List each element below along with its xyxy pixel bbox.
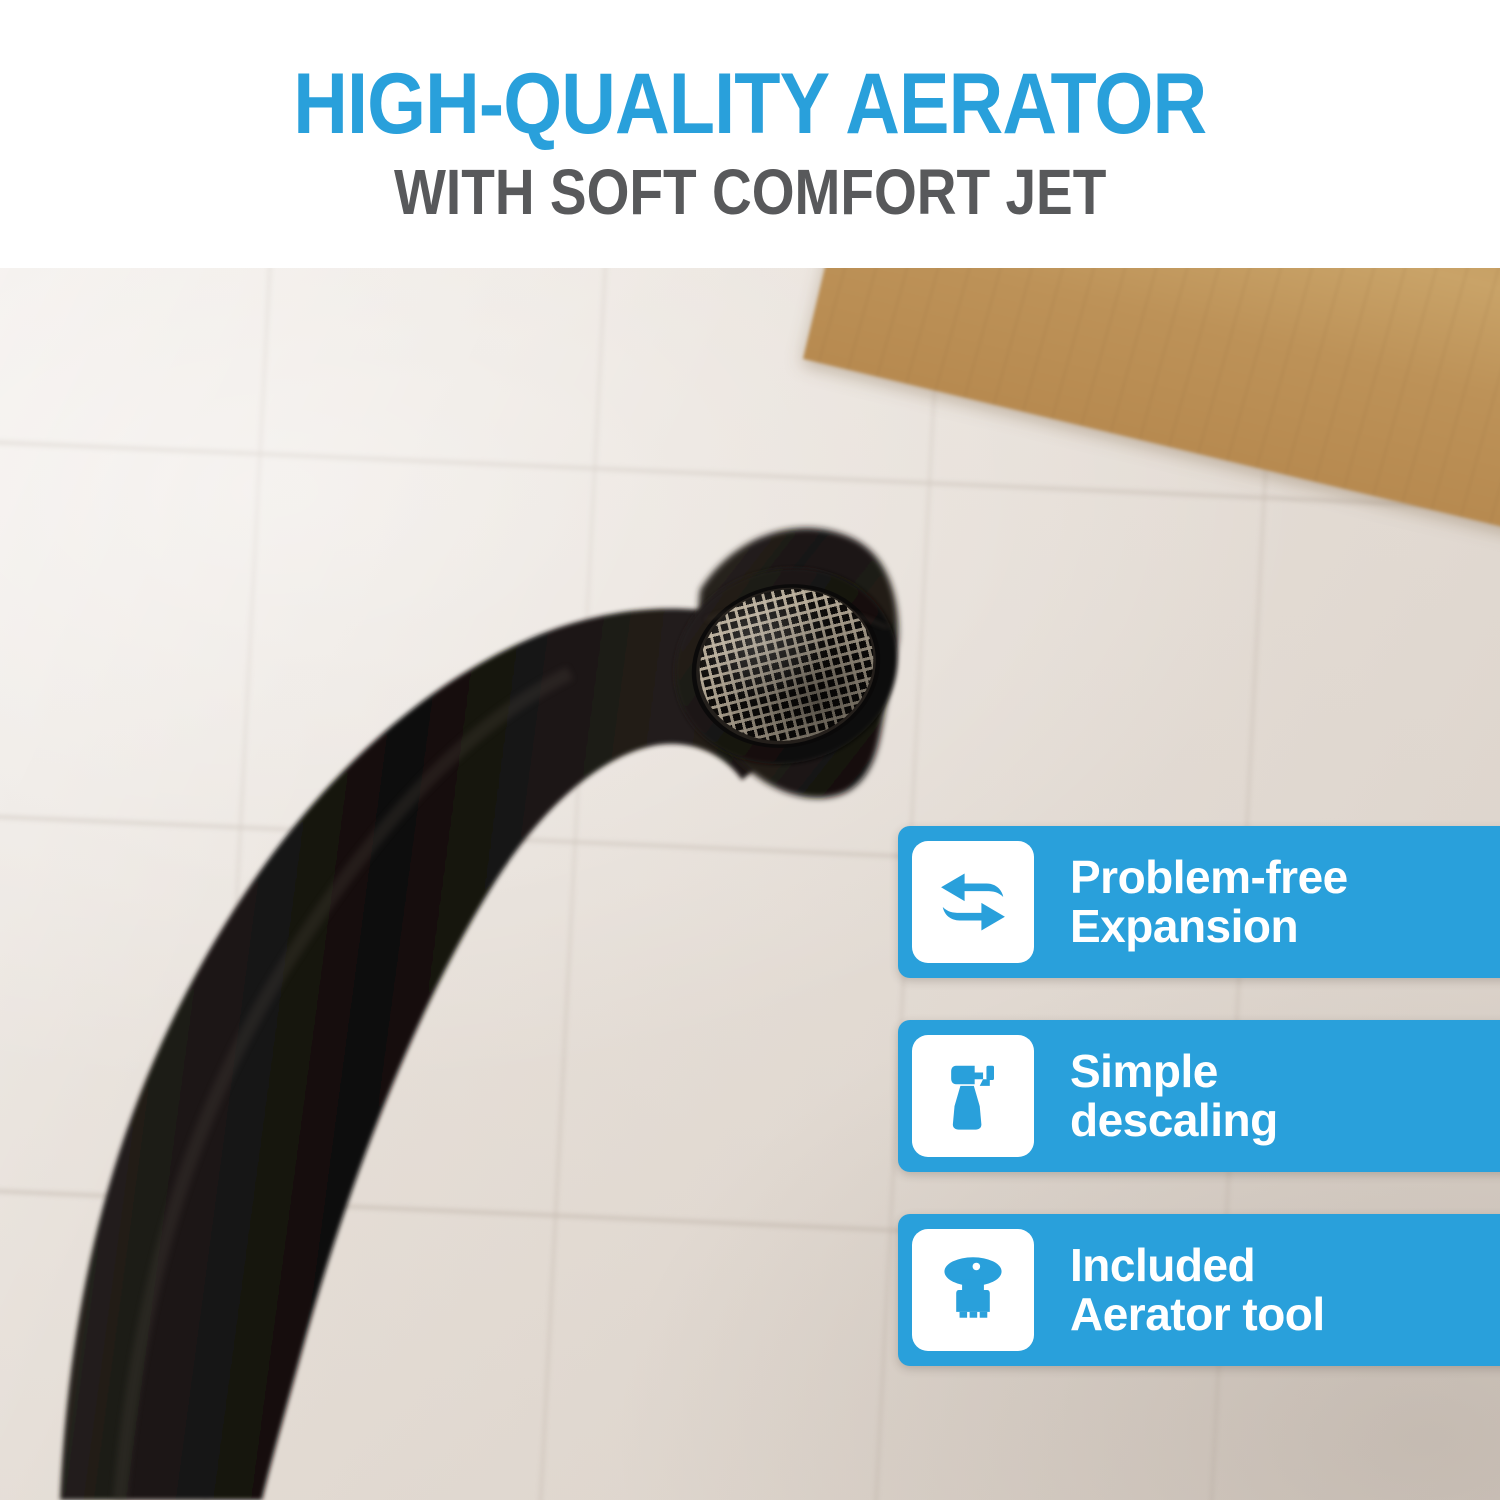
page-title: HIGH-QUALITY AERATOR xyxy=(294,62,1207,146)
swap-arrows-icon xyxy=(931,860,1015,944)
page-subtitle: WITH SOFT COMFORT JET xyxy=(394,160,1106,224)
aerator-tool-icon xyxy=(931,1248,1015,1332)
icon-tile xyxy=(912,1229,1034,1351)
icon-tile xyxy=(912,1035,1034,1157)
feature-badge-simple-descaling[interactable]: Simple descaling xyxy=(898,1020,1500,1172)
feature-badge-label: Problem-free Expansion xyxy=(1070,853,1348,951)
feature-badge-list: Problem-free Expansion Simple descaling xyxy=(898,826,1500,1366)
icon-tile xyxy=(912,841,1034,963)
product-banner: HIGH-QUALITY AERATOR WITH SOFT COMFORT J… xyxy=(0,0,1500,1500)
spray-bottle-icon xyxy=(931,1054,1015,1138)
feature-badge-label: Simple descaling xyxy=(1070,1047,1278,1145)
feature-badge-included-aerator-tool[interactable]: Included Aerator tool xyxy=(898,1214,1500,1366)
feature-badge-problem-free-expansion[interactable]: Problem-free Expansion xyxy=(898,826,1500,978)
product-photo: Problem-free Expansion Simple descaling xyxy=(0,268,1500,1500)
feature-badge-label: Included Aerator tool xyxy=(1070,1241,1325,1339)
header-banner: HIGH-QUALITY AERATOR WITH SOFT COMFORT J… xyxy=(0,0,1500,268)
